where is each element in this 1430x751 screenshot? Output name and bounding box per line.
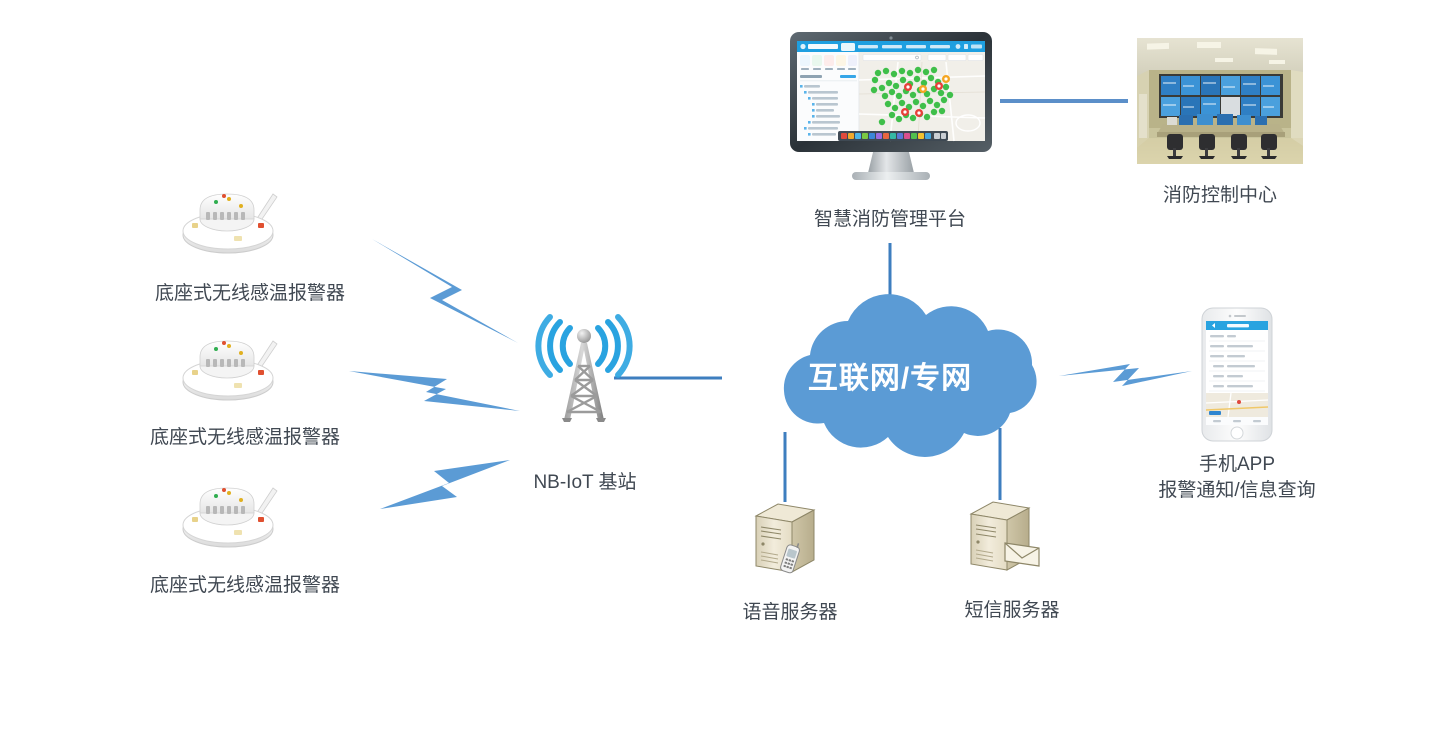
management-platform-monitor[interactable] [786, 28, 996, 188]
sms-server-icon [963, 498, 1045, 580]
heat-detector-icon [172, 480, 296, 552]
sensor-1-label: 底座式无线感温报警器 [110, 281, 390, 307]
voice-server-icon [748, 500, 830, 582]
platform-label: 智慧消防管理平台 [770, 207, 1010, 233]
desktop-monitor-icon [786, 28, 996, 188]
link-sensor-1-lightning [372, 239, 518, 343]
voice-server-label: 语音服务器 [690, 600, 890, 626]
heat-detector-icon [172, 333, 296, 405]
cell-tower-icon [528, 312, 640, 436]
mobile-app-label-line2: 报警通知/信息查询 [1117, 478, 1357, 504]
voice-server[interactable] [748, 500, 830, 582]
link-sensor-2-lightning [349, 371, 520, 411]
sms-server[interactable] [963, 498, 1045, 580]
mobile-app-phone[interactable] [1201, 307, 1273, 442]
cloud-label: 互联网/专网 [700, 353, 1080, 397]
nb-iot-base-station[interactable] [528, 312, 640, 436]
sensor-2-label: 底座式无线感温报警器 [105, 425, 385, 451]
base-station-label: NB-IoT 基站 [470, 470, 700, 496]
heat-detector-icon [172, 186, 296, 258]
topology-diagram-canvas: 底座式无线感温报警器 底座式无线感温报警器 [0, 0, 1430, 751]
fire-control-center[interactable] [1137, 38, 1303, 164]
sms-server-label: 短信服务器 [912, 598, 1112, 624]
mobile-app-label-line1: 手机APP [1137, 452, 1337, 478]
sensor-device-2[interactable] [172, 333, 296, 405]
smartphone-icon [1201, 307, 1273, 442]
internet-cloud[interactable]: 互联网/专网 [700, 295, 1080, 450]
control-center-label: 消防控制中心 [1120, 183, 1320, 209]
sensor-3-label: 底座式无线感温报警器 [105, 573, 385, 599]
sensor-device-3[interactable] [172, 480, 296, 552]
control-room-photo [1137, 38, 1303, 164]
sensor-device-1[interactable] [172, 186, 296, 258]
